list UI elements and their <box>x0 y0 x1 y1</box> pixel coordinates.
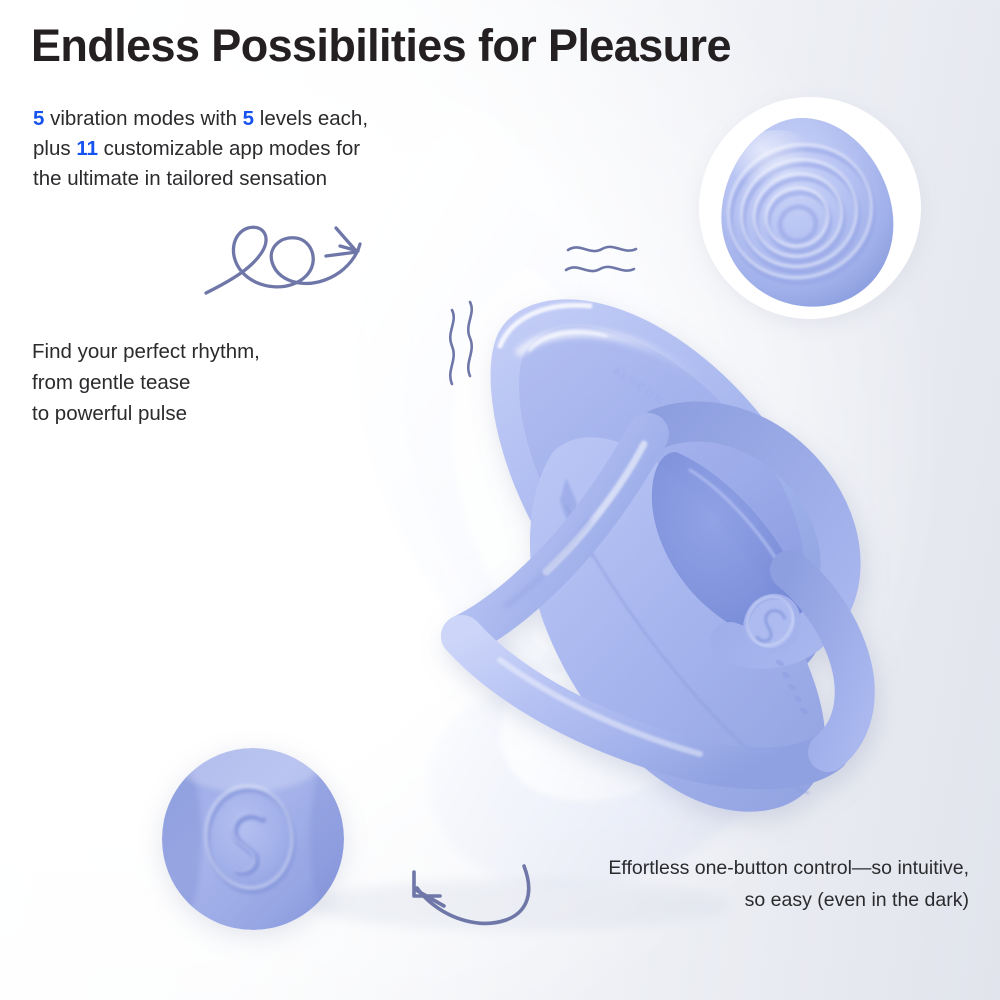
stat-app-modes: 11 <box>76 137 98 160</box>
subhead-text-2: levels each, <box>254 107 368 130</box>
caption-right: Effortless one-button control—so intuiti… <box>608 852 969 916</box>
subhead-text-3: plus <box>33 137 76 160</box>
caption-left-line2: from gentle tease <box>32 367 260 398</box>
subheadline: 5 vibration modes with 5 levels each, pl… <box>33 104 368 194</box>
subhead-text-4: customizable app modes for <box>98 137 360 160</box>
caption-left: Find your perfect rhythm, from gentle te… <box>32 336 260 429</box>
inset-ribbed-dome <box>706 104 914 312</box>
vibration-waves-horizontal-icon <box>566 247 636 271</box>
inset-power-button <box>162 748 344 930</box>
curved-arrow-left-icon <box>414 866 529 923</box>
subhead-text-1: vibration modes with <box>44 107 242 130</box>
caption-right-line1: Effortless one-button control—so intuiti… <box>608 852 969 884</box>
stat-modes: 5 <box>33 107 44 130</box>
caption-left-line3: to powerful pulse <box>32 398 260 429</box>
infographic-canvas: ALSCON <box>0 0 1000 1000</box>
caption-left-line1: Find your perfect rhythm, <box>32 336 260 367</box>
curly-arrow-right-icon <box>206 227 360 293</box>
vibration-waves-vertical-icon <box>450 302 471 384</box>
page-title: Endless Possibilities for Pleasure <box>31 20 731 72</box>
caption-right-line2: so easy (even in the dark) <box>608 884 969 916</box>
stat-levels: 5 <box>243 107 254 130</box>
subhead-text-5: the ultimate in tailored sensation <box>33 164 368 194</box>
